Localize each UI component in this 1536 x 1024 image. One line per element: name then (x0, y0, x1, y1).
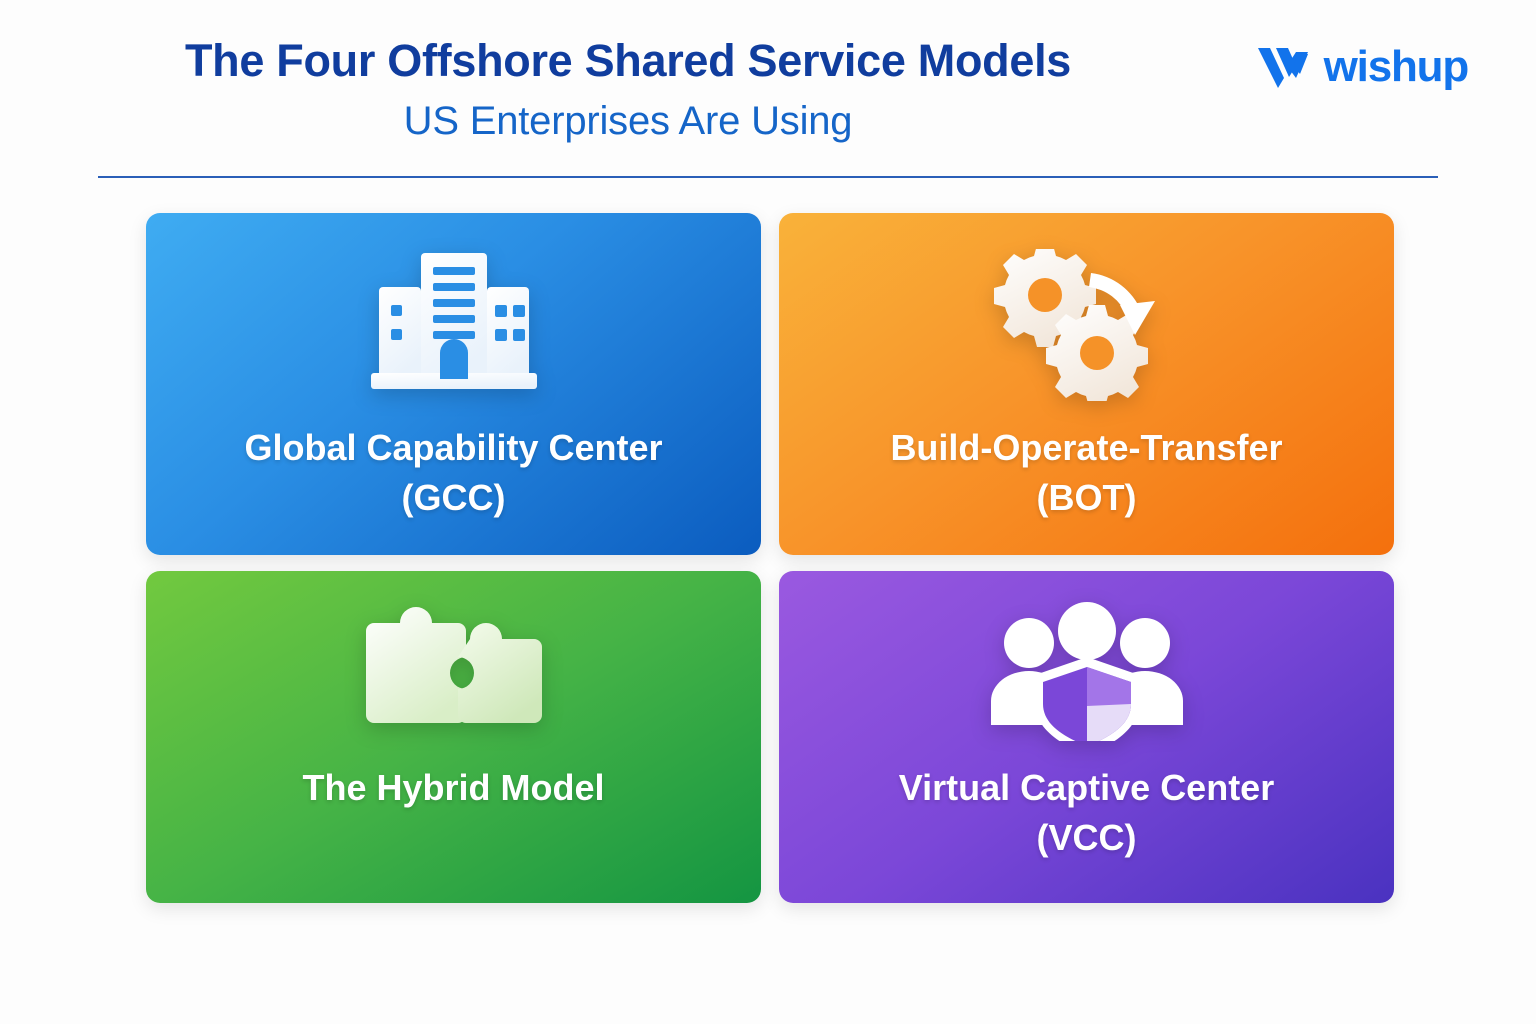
page-title: The Four Offshore Shared Service Models (98, 36, 1158, 86)
model-subtitle-text: (BOT) (804, 473, 1370, 523)
model-card-title-hybrid: The Hybrid Model (171, 763, 737, 813)
model-card-title-gcc: Global Capability Center (GCC) (171, 423, 737, 522)
model-title-text: Build-Operate-Transfer (890, 427, 1282, 468)
title-block: The Four Offshore Shared Service Models … (98, 36, 1158, 144)
model-card-bot[interactable]: Build-Operate-Transfer (BOT) (779, 213, 1394, 555)
model-subtitle-text: (VCC) (804, 813, 1370, 863)
models-grid: Global Capability Center (GCC) (146, 213, 1394, 903)
model-title-text: Global Capability Center (244, 427, 662, 468)
model-title-text: The Hybrid Model (302, 767, 604, 808)
puzzle-pieces-icon (356, 601, 552, 741)
page-subtitle: US Enterprises Are Using (98, 98, 1158, 144)
header-divider (98, 176, 1438, 178)
team-shield-icon (979, 601, 1195, 741)
model-title-text: Virtual Captive Center (899, 767, 1274, 808)
wishup-w-mark-icon (1256, 44, 1318, 90)
model-card-title-vcc: Virtual Captive Center (VCC) (804, 763, 1370, 862)
wishup-logo[interactable]: wishup (1256, 44, 1468, 90)
gears-transfer-arrow-icon (987, 249, 1187, 401)
model-card-hybrid[interactable]: The Hybrid Model (146, 571, 761, 903)
model-subtitle-text: (GCC) (171, 473, 737, 523)
wishup-logo-text: wishup (1324, 45, 1468, 89)
model-card-gcc[interactable]: Global Capability Center (GCC) (146, 213, 761, 555)
infographic-page: The Four Offshore Shared Service Models … (0, 0, 1536, 1024)
office-building-icon (365, 249, 543, 401)
model-card-vcc[interactable]: Virtual Captive Center (VCC) (779, 571, 1394, 903)
header: The Four Offshore Shared Service Models … (0, 0, 1536, 185)
model-card-title-bot: Build-Operate-Transfer (BOT) (804, 423, 1370, 522)
